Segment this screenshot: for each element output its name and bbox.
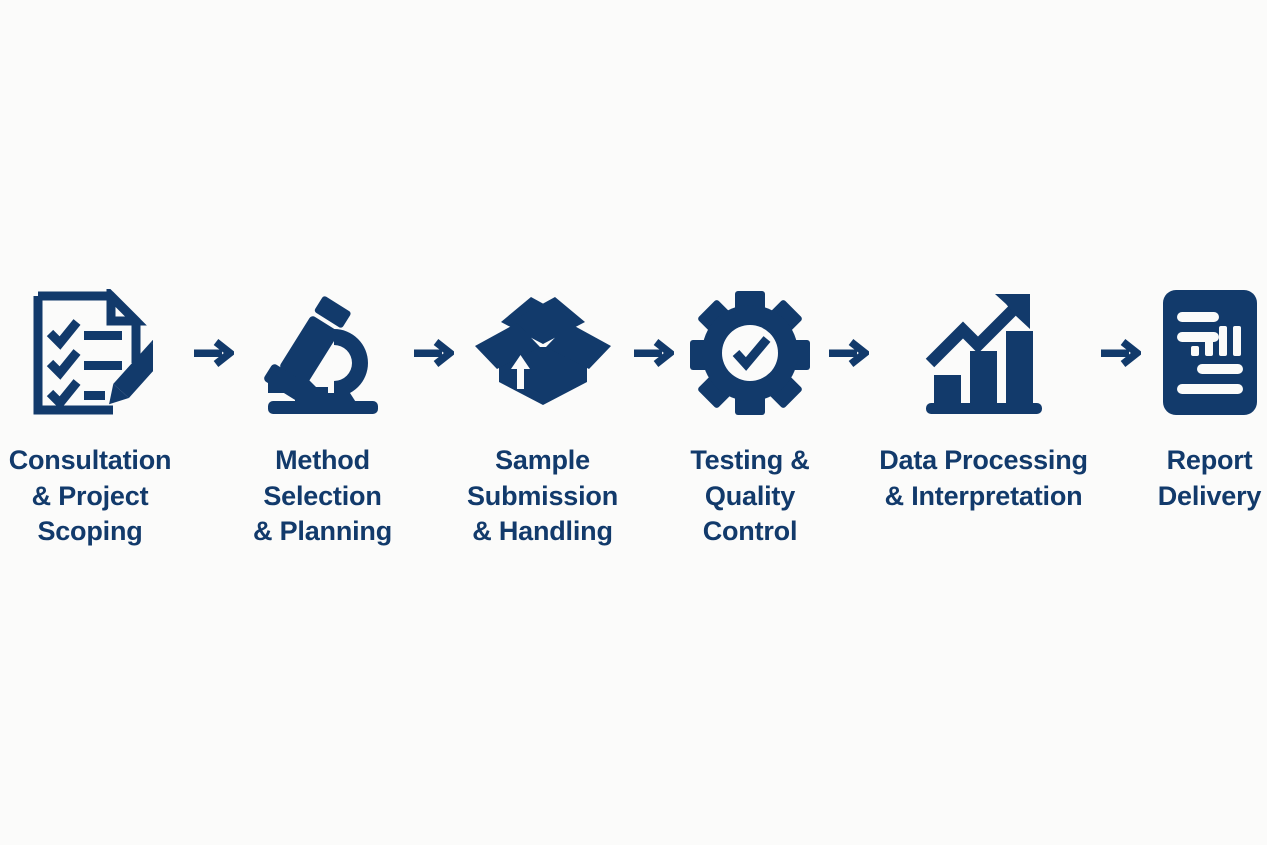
process-step-testing-qc[interactable]: Testing & Quality Control — [683, 285, 818, 550]
gear-checkmark-icon — [689, 285, 811, 420]
microscope-icon — [262, 285, 384, 420]
flow-arrow-icon-5 — [1090, 285, 1150, 420]
process-step-label: Report Delivery — [1158, 443, 1261, 514]
clipboard-checklist-pencil-icon — [27, 285, 153, 420]
process-step-consultation[interactable]: Consultation & Project Scoping — [0, 285, 183, 550]
flow-arrow-icon-1 — [183, 285, 243, 420]
open-box-package-icon — [473, 285, 613, 420]
flow-arrow-icon-4 — [818, 285, 878, 420]
flow-arrow-icon-2 — [403, 285, 463, 420]
process-step-data-processing[interactable]: Data Processing & Interpretation — [878, 285, 1090, 514]
report-document-icon — [1163, 285, 1257, 420]
process-flow-row: Consultation & Project Scoping — [0, 285, 1267, 550]
process-step-label: Data Processing & Interpretation — [879, 443, 1088, 514]
bar-chart-trend-arrow-icon — [920, 285, 1048, 420]
process-step-label: Method Selection & Planning — [253, 443, 392, 550]
process-step-method-selection[interactable]: Method Selection & Planning — [243, 285, 403, 550]
process-step-label: Sample Submission & Handling — [467, 443, 618, 550]
process-step-label: Consultation & Project Scoping — [9, 443, 172, 550]
process-step-report-delivery[interactable]: Report Delivery — [1150, 285, 1267, 514]
process-step-label: Testing & Quality Control — [690, 443, 809, 550]
workflow-diagram-canvas: Consultation & Project Scoping — [0, 0, 1267, 845]
flow-arrow-icon-3 — [623, 285, 683, 420]
process-step-sample-submission[interactable]: Sample Submission & Handling — [463, 285, 623, 550]
